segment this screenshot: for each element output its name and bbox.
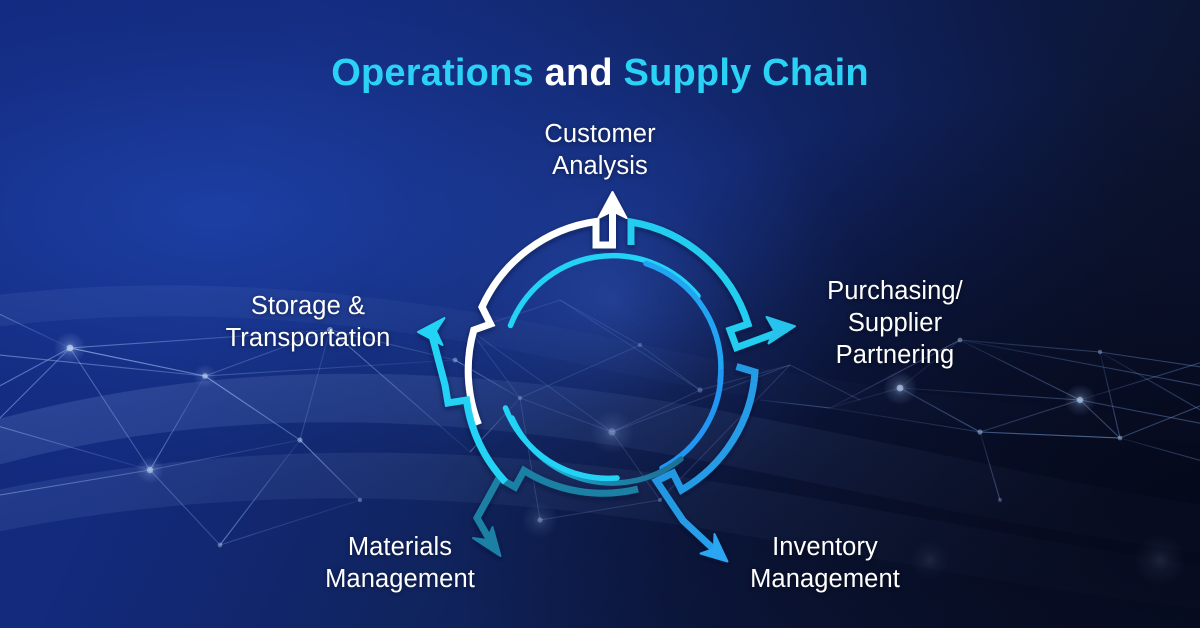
inner-ring-right [646,264,721,383]
label-storage-line2: Transportation [148,322,468,354]
outer-ring [418,192,795,562]
segment-customer-analysis[interactable] [468,192,626,425]
label-customer-analysis-line1: Customer [430,118,770,150]
label-storage-line1: Storage & [148,290,468,322]
label-materials-line1: Materials [245,531,555,563]
page-title: Operations and Supply Chain [0,49,1200,97]
inner-ring-top [511,256,699,326]
label-customer-analysis[interactable]: Customer Analysis [430,118,770,182]
title-part-operations: Operations [331,52,534,94]
label-purchasing-line3: Partnering [735,339,1055,371]
inner-ring-right-lower [662,372,721,468]
label-purchasing-supplier-partnering[interactable]: Purchasing/ Supplier Partnering [735,275,1055,371]
inner-ring [506,256,722,483]
label-materials-management[interactable]: Materials Management [245,531,555,595]
label-inventory-line1: Inventory [670,531,980,563]
label-inventory-management[interactable]: Inventory Management [670,531,980,595]
label-purchasing-line1: Purchasing/ [735,275,1055,307]
label-customer-analysis-line2: Analysis [430,150,770,182]
label-purchasing-line2: Supplier [735,307,1055,339]
infographic-canvas: Operations and Supply Chain Customer Ana… [0,0,1200,628]
label-materials-line2: Management [245,563,555,595]
title-part-supply-chain: Supply Chain [624,52,869,94]
title-part-and: and [534,52,624,94]
label-inventory-line2: Management [670,563,980,595]
label-storage-transportation[interactable]: Storage & Transportation [148,290,468,354]
